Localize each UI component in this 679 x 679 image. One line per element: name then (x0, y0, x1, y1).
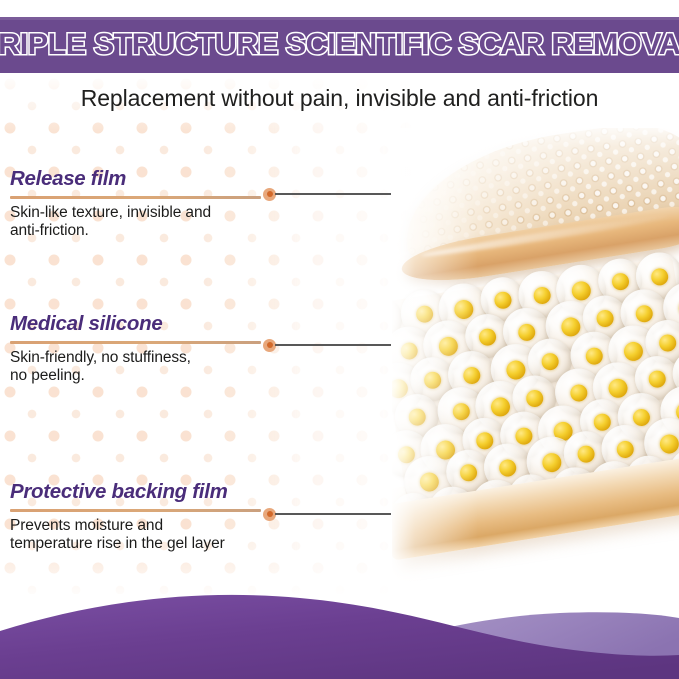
feature-description: Prevents moisture and temperature rise i… (10, 517, 268, 555)
leader-line (275, 513, 391, 515)
feature-description: Skin-friendly, no stuffiness, no peeling… (10, 349, 268, 387)
leader-medical-silicone (263, 338, 391, 352)
feature-title: Protective backing film (10, 481, 268, 504)
feature-title: Medical silicone (10, 313, 268, 336)
leader-line (275, 344, 391, 346)
feature-underline (10, 196, 261, 199)
leader-release-film (263, 187, 391, 201)
page-title: TRIPLE STRUCTURE SCIENTIFIC SCAR REMOVAL (0, 30, 679, 60)
feature-title: Release film (10, 168, 268, 191)
feature-underline (10, 509, 261, 512)
feature-block-medical-silicone: Medical silicone Skin-friendly, no stuff… (10, 313, 268, 386)
product-infographic: TRIPLE STRUCTURE SCIENTIFIC SCAR REMOVAL… (0, 0, 679, 679)
bottom-wave-decoration (0, 569, 679, 679)
subtitle: Replacement without pain, invisible and … (0, 85, 679, 112)
banner-top-strip (0, 17, 679, 20)
feature-underline (10, 341, 261, 344)
feature-block-release-film: Release film Skin-like texture, invisibl… (10, 168, 268, 241)
leader-protective-backing-film (263, 507, 391, 521)
feature-description: Skin-like texture, invisible and anti-fr… (10, 204, 268, 242)
leader-line (275, 193, 391, 195)
header-banner: TRIPLE STRUCTURE SCIENTIFIC SCAR REMOVAL (0, 17, 679, 73)
feature-block-protective-backing-film: Protective backing film Prevents moistur… (10, 481, 268, 554)
product-illustration (392, 128, 679, 598)
